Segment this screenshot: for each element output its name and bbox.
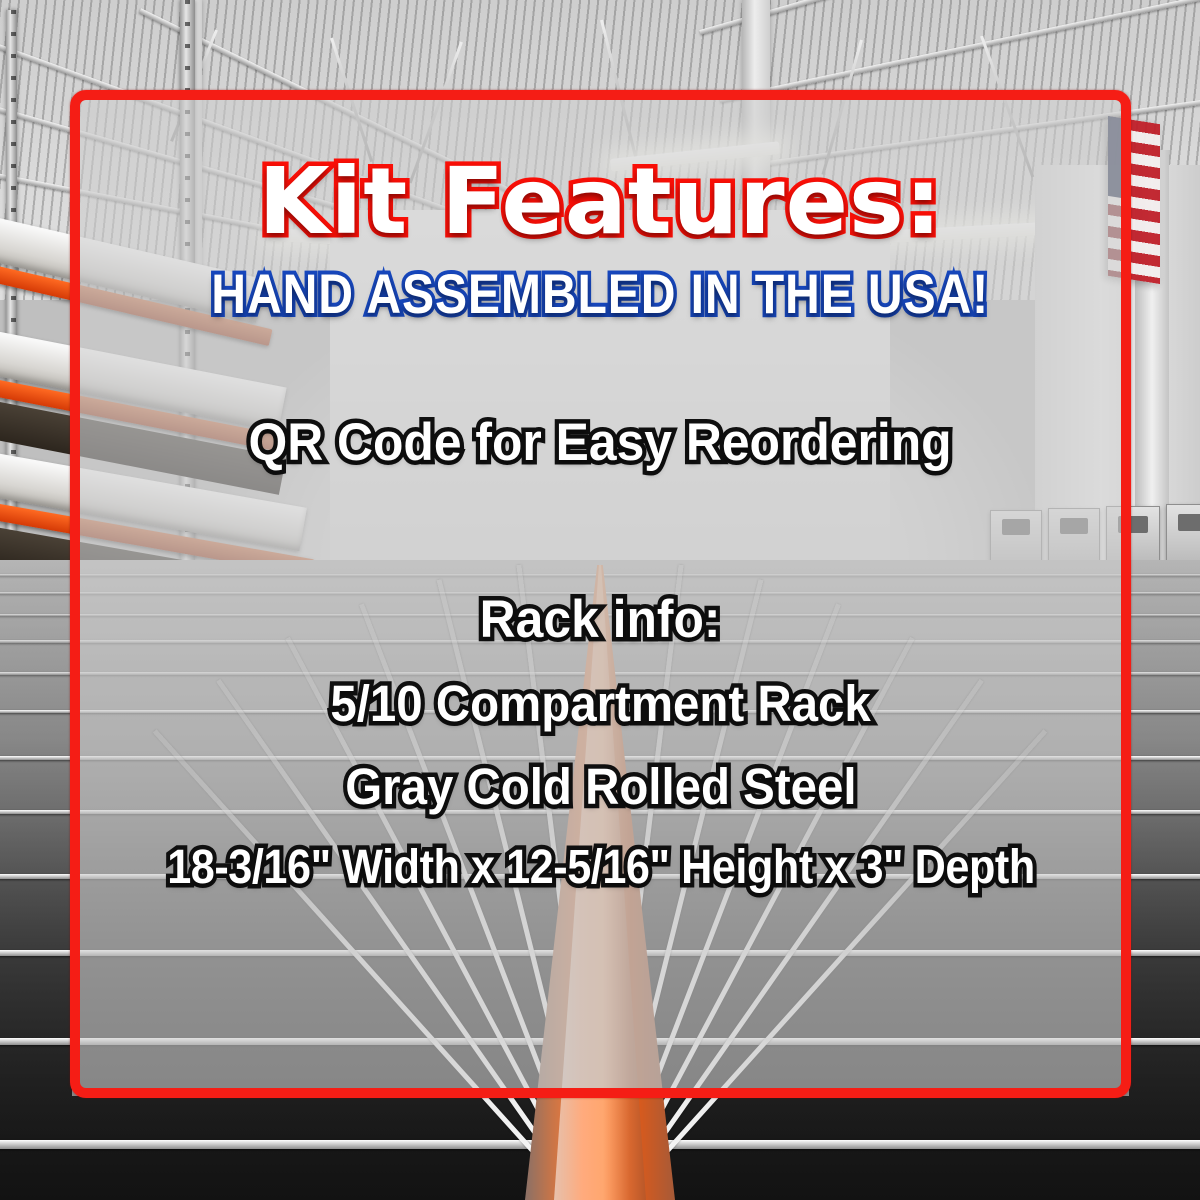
spec-line-compartment: 5/10 Compartment Rack xyxy=(330,674,870,733)
page-title: Kit Features: xyxy=(258,154,942,251)
spec-line-material: Gray Cold Rolled Steel xyxy=(345,757,856,816)
spec-line-dimensions: 18-3/16" Width x 12-5/16" Height x 3" De… xyxy=(167,840,1035,895)
poster-content: Kit Features: HAND ASSEMBLED IN THE USA!… xyxy=(72,92,1129,1096)
subtitle-usa-banner: HAND ASSEMBLED IN THE USA! xyxy=(212,261,990,326)
rack-info-heading: Rack info: xyxy=(480,589,721,650)
qr-reorder-line: QR Code for Easy Reordering xyxy=(249,412,952,473)
poster-canvas: Kit Features: HAND ASSEMBLED IN THE USA!… xyxy=(0,0,1200,1200)
